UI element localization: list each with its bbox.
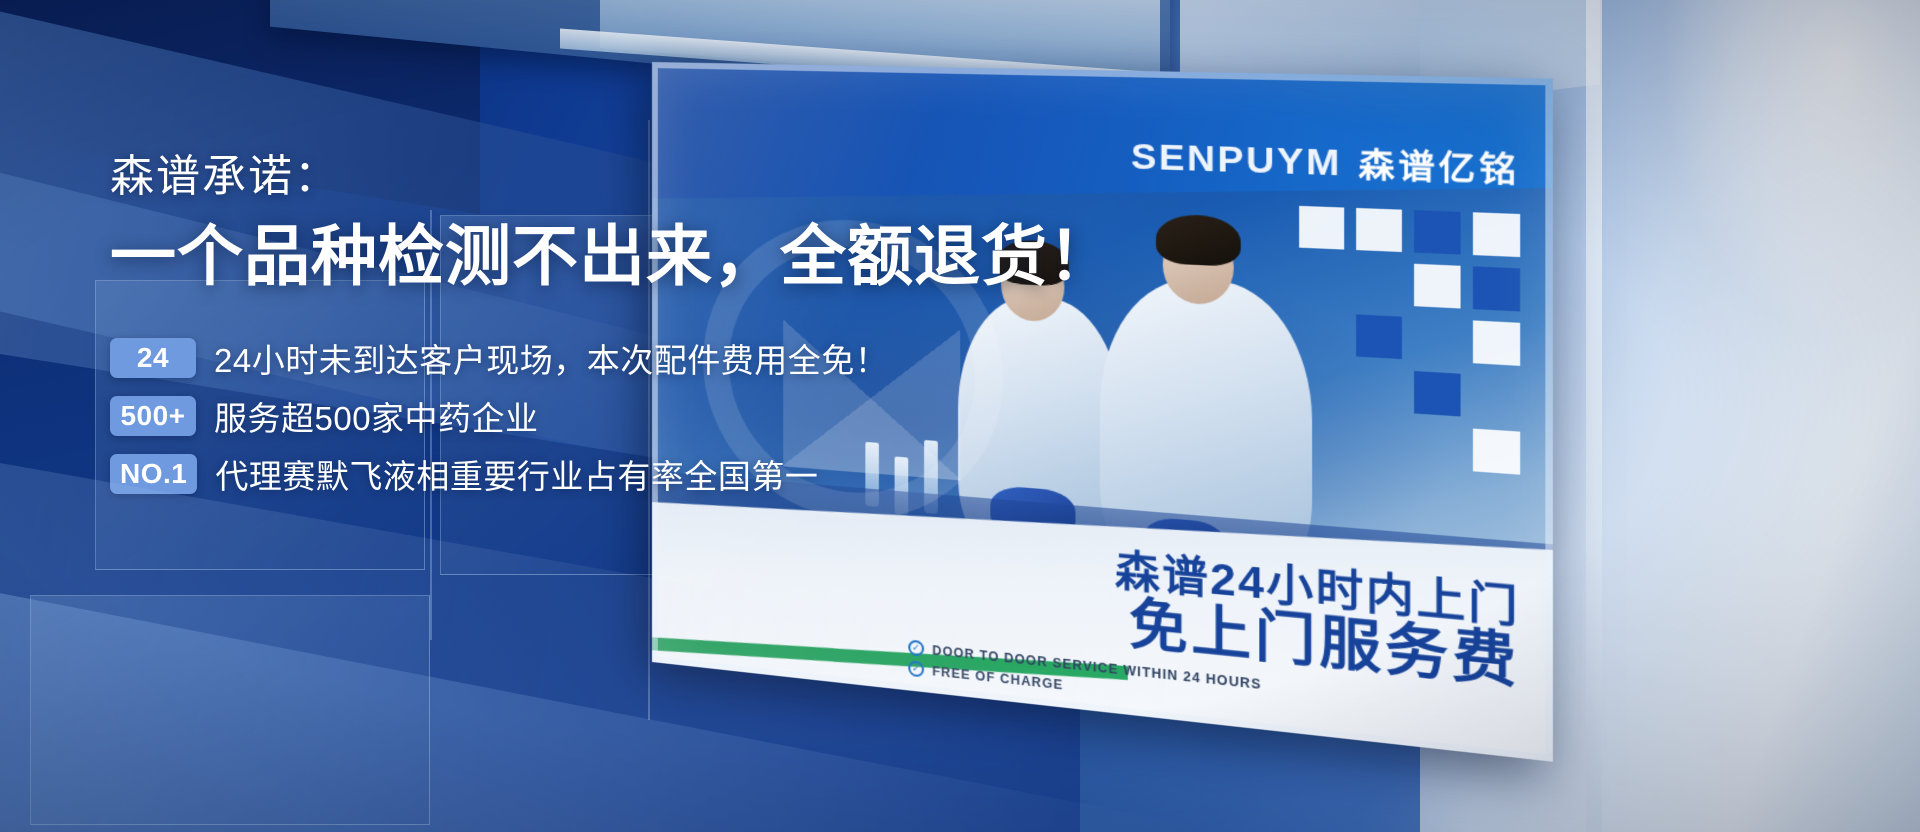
checker-square: [1356, 208, 1402, 252]
checker-square: [1473, 320, 1520, 366]
check-circle-icon: ✓: [908, 639, 924, 656]
checker-square: [1414, 210, 1461, 254]
status-badge: 500+: [110, 396, 196, 436]
banner-headline: 一个品种检测不出来，全额退货！: [110, 220, 1110, 294]
scientist-2-hair: [1156, 214, 1241, 267]
status-badge: 24: [110, 338, 196, 378]
checker-square: [1299, 206, 1344, 250]
right-wall-edge: [1586, 0, 1602, 832]
bullet-text: 代理赛默飞液相重要行业占有率全国第一: [215, 450, 818, 498]
right-wall-glow: [1660, 0, 1920, 340]
bullet-text: 服务超500家中药企业: [214, 392, 539, 440]
banner-scene: SENPUYM 森谱亿铭: [0, 0, 1920, 832]
list-item: NO.1 代理赛默飞液相重要行业占有率全国第一: [110, 452, 1110, 496]
banner-kicker: 森谱承诺：: [110, 140, 1110, 204]
check-circle-icon: ✓: [908, 660, 924, 677]
checker-square: [1414, 264, 1461, 309]
checker-square: [1356, 314, 1402, 359]
list-item: 500+ 服务超500家中药企业: [110, 394, 1110, 438]
checker-square: [1473, 429, 1520, 475]
banner-content: 森谱承诺： 一个品种检测不出来，全额退货！ 24 24小时未到达客户现场，本次配…: [110, 140, 1110, 510]
status-badge: NO.1: [110, 454, 197, 494]
background-cabinet-3: [30, 595, 430, 825]
checker-square: [1414, 371, 1461, 416]
poster-logo-cn: 森谱亿铭: [1359, 137, 1521, 191]
checker-square: [1473, 212, 1520, 257]
banner-bullet-list: 24 24小时未到达客户现场，本次配件费用全免！ 500+ 服务超500家中药企…: [110, 336, 1110, 496]
checker-square: [1473, 266, 1520, 311]
poster-logo-en: SENPUYM: [1131, 136, 1342, 185]
bullet-text: 24小时未到达客户现场，本次配件费用全免！: [214, 334, 888, 382]
list-item: 24 24小时未到达客户现场，本次配件费用全免！: [110, 336, 1110, 380]
